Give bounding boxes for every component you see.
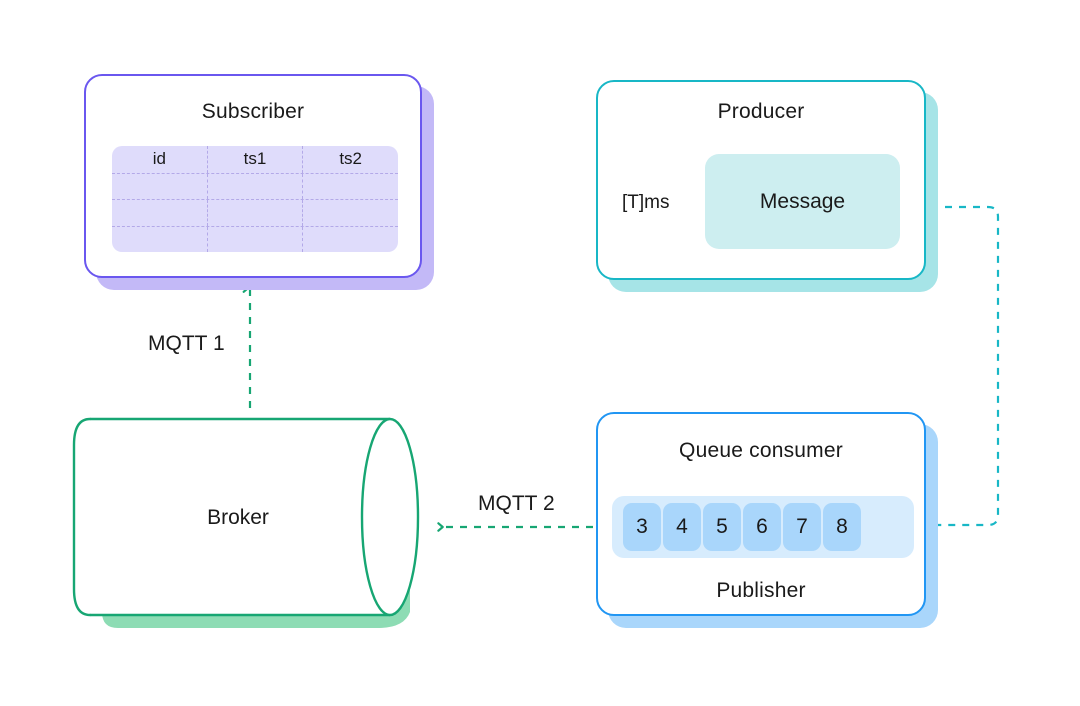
diagram-canvas: Subscriber id ts1 ts2	[0, 0, 1080, 706]
publisher-title: Publisher	[598, 579, 924, 603]
queue-chip[interactable]: 7	[783, 503, 821, 551]
queue-consumer-title: Queue consumer	[598, 439, 924, 463]
subscriber-table: id ts1 ts2	[112, 146, 398, 252]
table-row	[112, 199, 398, 226]
table-cell	[207, 174, 303, 200]
table-cell	[207, 227, 303, 253]
queue-chip[interactable]: 3	[623, 503, 661, 551]
queue-chip[interactable]: 6	[743, 503, 781, 551]
table-cell	[302, 174, 398, 200]
table-row	[112, 173, 398, 200]
queue-chip-list: 3 4 5 6 7 8	[623, 503, 861, 551]
queue-chip[interactable]: 4	[663, 503, 701, 551]
table-cell	[112, 200, 207, 226]
interval-label: [T]ms	[622, 192, 670, 214]
broker-label: Broker	[88, 506, 388, 530]
subscriber-title: Subscriber	[86, 100, 420, 124]
table-header-id: id	[112, 146, 207, 173]
table-row	[112, 226, 398, 253]
message-block[interactable]: Message	[705, 154, 900, 249]
queue-chip[interactable]: 8	[823, 503, 861, 551]
producer-title: Producer	[598, 100, 924, 124]
table-header-ts2: ts2	[302, 146, 398, 173]
table-cell	[112, 174, 207, 200]
table-cell	[302, 200, 398, 226]
queue-track: 3 4 5 6 7 8	[612, 496, 914, 558]
queue-chip[interactable]: 5	[703, 503, 741, 551]
table-header-ts1: ts1	[207, 146, 303, 173]
table-cell	[112, 227, 207, 253]
edge-label-mqtt-1: MQTT 1	[148, 332, 225, 356]
edge-label-mqtt-2: MQTT 2	[478, 492, 555, 516]
subscriber-card[interactable]: Subscriber id ts1 ts2	[84, 74, 422, 278]
producer-card[interactable]: Producer [T]ms Message	[596, 80, 926, 280]
table-cell	[302, 227, 398, 253]
table-header-row: id ts1 ts2	[112, 146, 398, 173]
broker-node[interactable]: Broker	[88, 406, 438, 628]
table-cell	[207, 200, 303, 226]
publisher-card[interactable]: Queue consumer 3 4 5 6 7 8 Publisher	[596, 412, 926, 616]
